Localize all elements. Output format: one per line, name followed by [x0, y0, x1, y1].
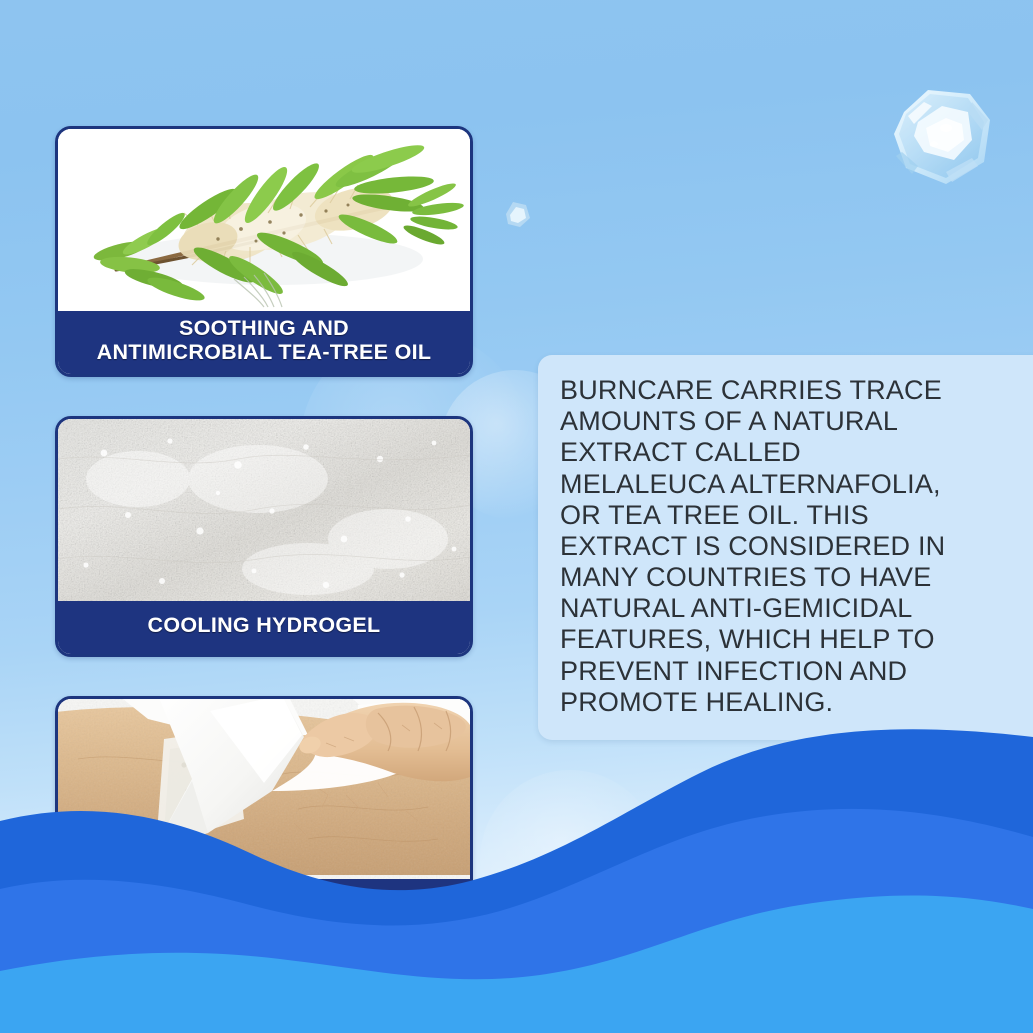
- hydrogel-texture-photo: [58, 419, 470, 601]
- description-text: BURNCARE CARRIES TRACE AMOUNTS OF A NATU…: [560, 375, 1022, 718]
- description-panel: BURNCARE CARRIES TRACE AMOUNTS OF A NATU…: [538, 355, 1033, 740]
- ice-cube-icon: [884, 82, 998, 190]
- infographic-canvas: SOOTHING AND ANTIMICROBIAL TEA-TREE OIL: [0, 0, 1033, 1033]
- feature-card-cooling-hydrogel[interactable]: COOLING HYDROGEL: [55, 416, 473, 657]
- feature-card-label: SOOTHING AND ANTIMICROBIAL TEA-TREE OIL: [58, 311, 470, 374]
- water-droplet-icon: [500, 198, 533, 229]
- wave-decoration: [0, 703, 1033, 1033]
- tea-tree-branch-photo: [58, 129, 470, 311]
- feature-card-label: COOLING HYDROGEL: [58, 601, 470, 654]
- feature-card-tea-tree-oil[interactable]: SOOTHING AND ANTIMICROBIAL TEA-TREE OIL: [55, 126, 473, 377]
